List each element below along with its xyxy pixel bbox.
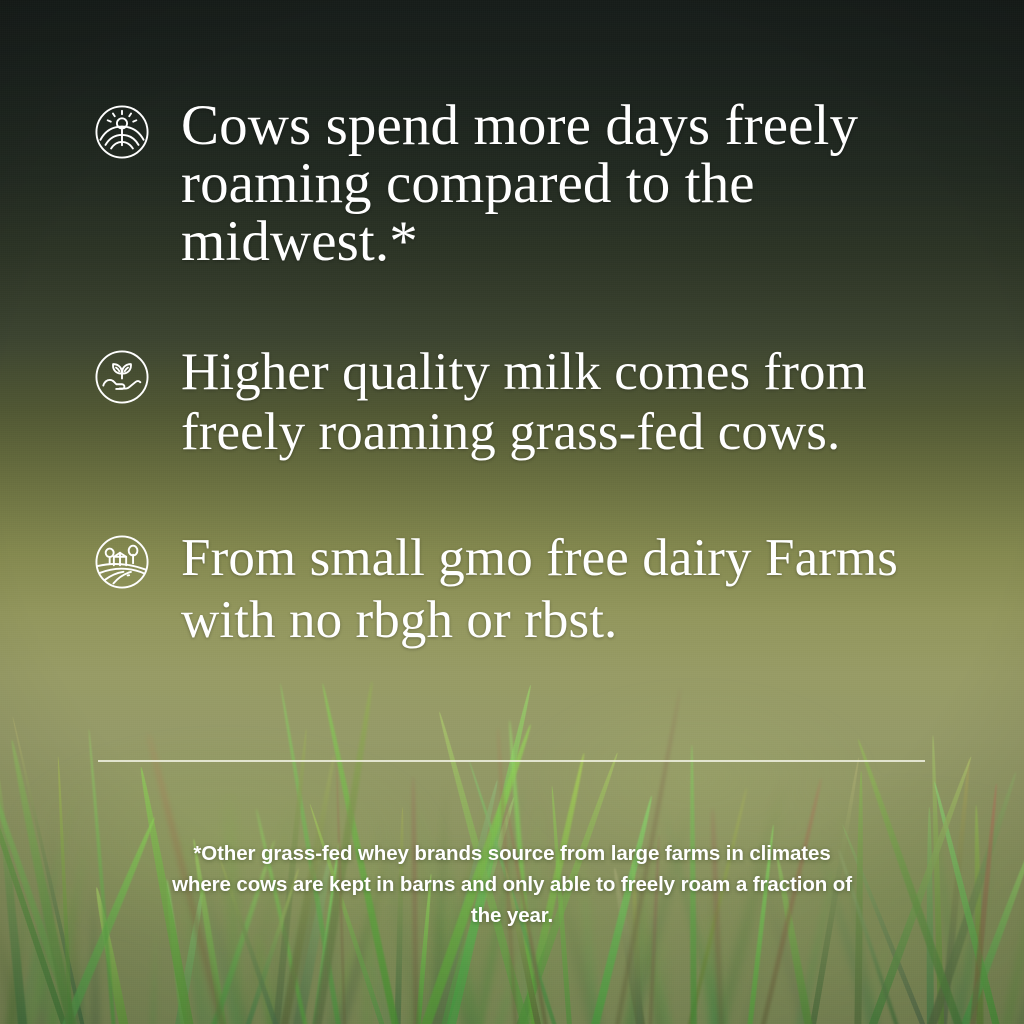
feature-item-2: Higher quality milk comes from freely ro… bbox=[93, 342, 993, 462]
content-layer: Cows spend more days freely roaming comp… bbox=[0, 0, 1024, 1024]
feature-text-3: From small gmo free dairy Farms with no … bbox=[181, 527, 921, 651]
footnote-disclaimer: *Other grass-fed whey brands source from… bbox=[162, 838, 862, 931]
hand-holding-sprout-icon bbox=[93, 348, 151, 406]
divider-rule bbox=[98, 760, 925, 762]
farm-barn-field-icon bbox=[93, 533, 151, 591]
feature-text-1: Cows spend more days freely roaming comp… bbox=[181, 97, 921, 271]
feature-item-3: From small gmo free dairy Farms with no … bbox=[93, 527, 993, 651]
feature-text-2: Higher quality milk comes from freely ro… bbox=[181, 342, 993, 462]
promo-graphic: Cows spend more days freely roaming comp… bbox=[0, 0, 1024, 1024]
sun-over-field-icon bbox=[93, 103, 151, 161]
feature-item-1: Cows spend more days freely roaming comp… bbox=[93, 97, 973, 271]
